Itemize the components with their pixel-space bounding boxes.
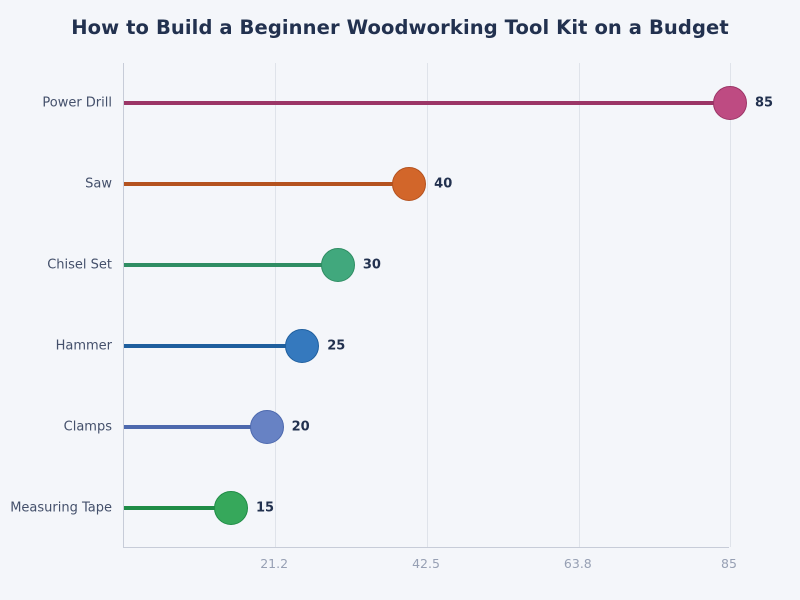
y-axis-tick-label: Hammer — [56, 338, 112, 353]
data-point-value-label: 40 — [434, 177, 452, 192]
y-axis-tick-label: Chisel Set — [47, 258, 112, 273]
chart-title: How to Build a Beginner Woodworking Tool… — [0, 16, 800, 39]
data-point-value-label: 85 — [755, 96, 773, 111]
x-axis-tick-label: 85 — [721, 556, 737, 571]
x-axis-tick-labels: 21.242.563.885 — [123, 556, 729, 580]
y-axis-tick-labels: Power DrillSawChisel SetHammerClampsMeas… — [0, 63, 112, 548]
x-axis-tick-label: 63.8 — [564, 556, 592, 571]
data-point-marker[interactable] — [250, 410, 284, 444]
plot-area: 854030252015 — [123, 63, 729, 548]
data-point-value-label: 15 — [256, 500, 274, 515]
y-axis-tick-label: Power Drill — [42, 96, 112, 111]
chart-figure: How to Build a Beginner Woodworking Tool… — [0, 0, 800, 600]
gridline-x-3 — [730, 63, 731, 547]
markers-layer: 854030252015 — [124, 63, 730, 548]
data-point-marker[interactable] — [214, 491, 248, 525]
data-point-value-label: 30 — [363, 258, 381, 273]
y-axis-tick-label: Measuring Tape — [10, 500, 112, 515]
data-point-value-label: 20 — [292, 419, 310, 434]
data-point-marker[interactable] — [321, 248, 355, 282]
y-axis-tick-label: Saw — [85, 177, 112, 192]
x-axis-tick-label: 42.5 — [412, 556, 440, 571]
data-point-value-label: 25 — [327, 338, 345, 353]
data-point-marker[interactable] — [392, 167, 426, 201]
y-axis-tick-label: Clamps — [64, 419, 112, 434]
x-axis-tick-label: 21.2 — [260, 556, 288, 571]
data-point-marker[interactable] — [713, 86, 747, 120]
data-point-marker[interactable] — [285, 329, 319, 363]
